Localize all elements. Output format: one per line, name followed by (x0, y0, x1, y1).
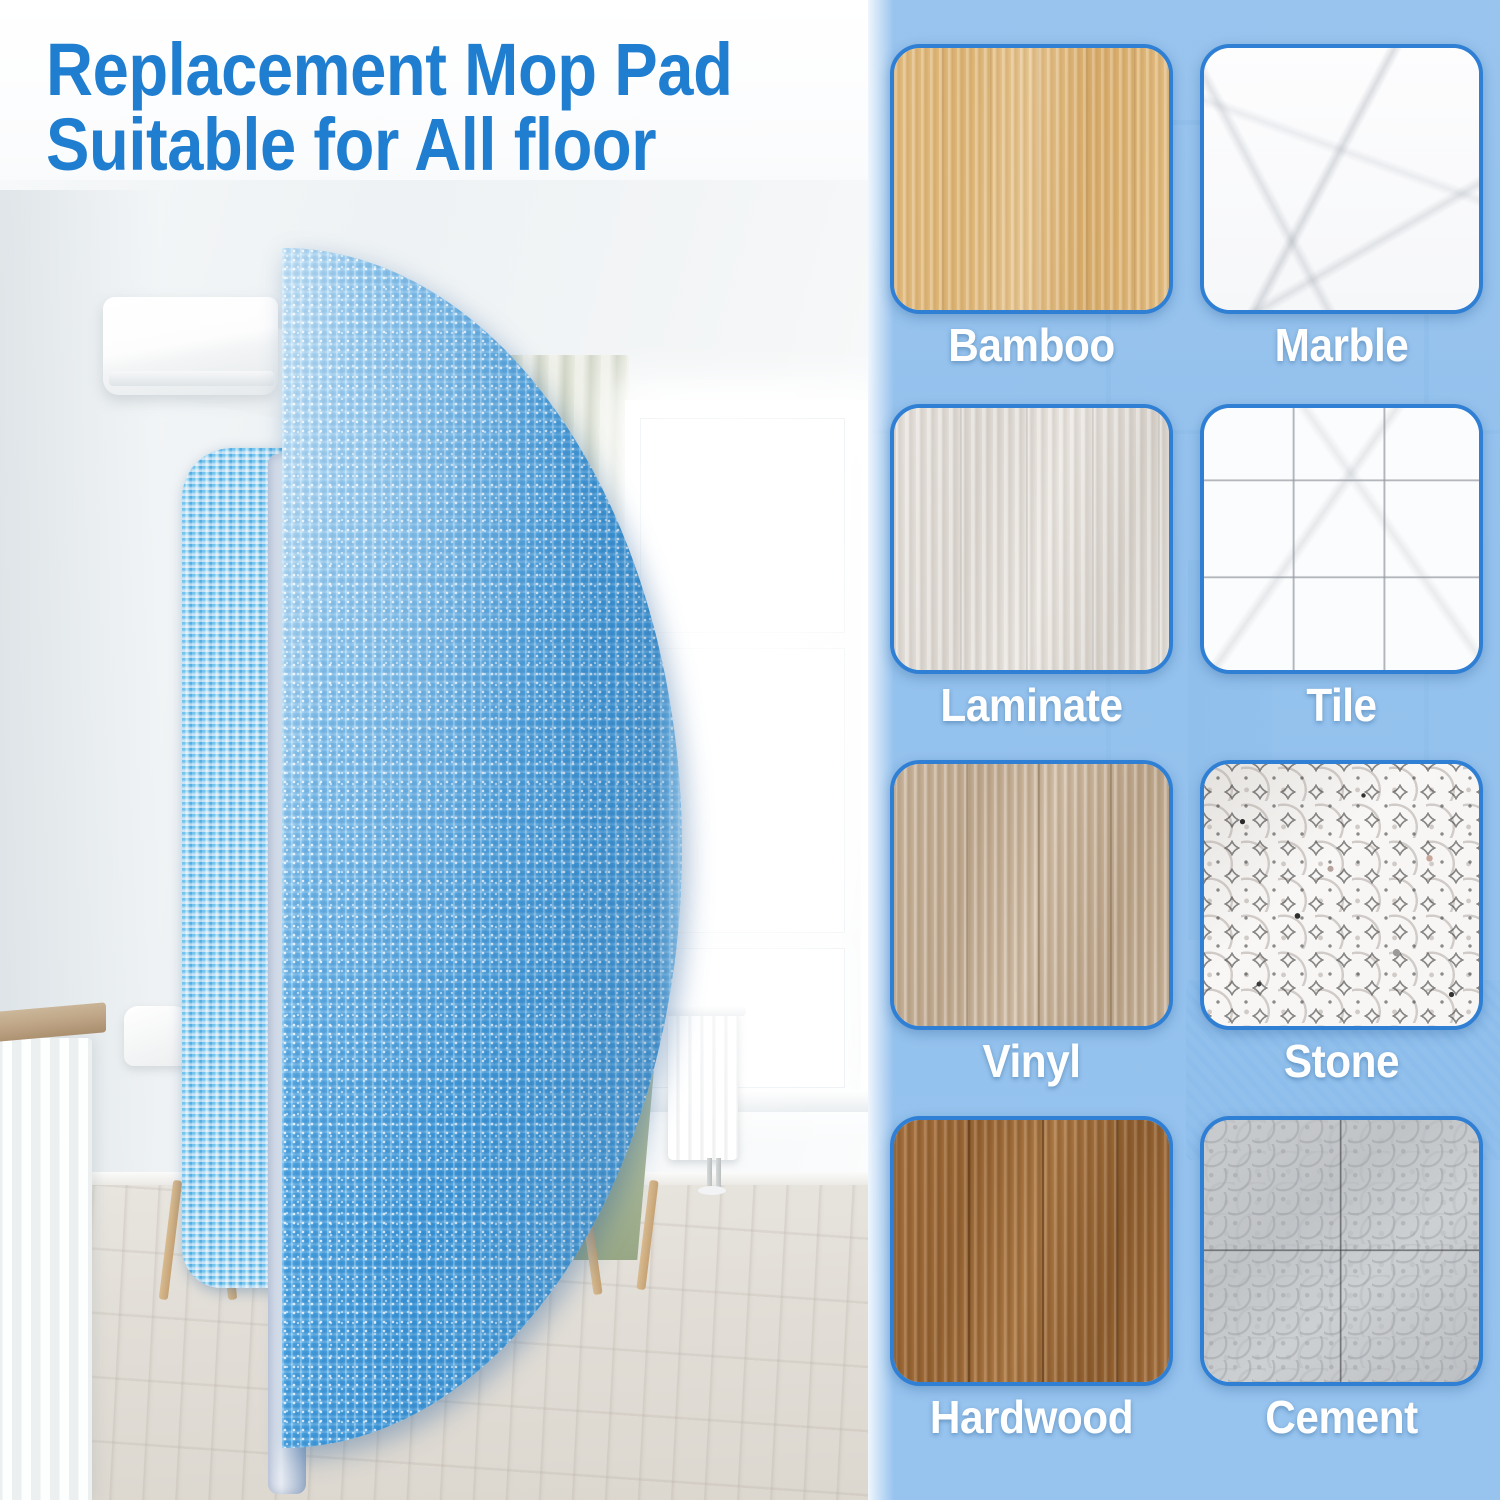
cabinet (0, 1038, 92, 1500)
vinyl-swatch (890, 760, 1173, 1030)
mop-pad (176, 248, 696, 1448)
floor-type-grid: Bamboo Marble Laminate Tile Vinyl Stone (868, 0, 1500, 1500)
floor-type-item-laminate: Laminate (890, 404, 1173, 731)
floor-type-item-marble: Marble (1200, 44, 1483, 371)
vinyl-texture (894, 764, 1169, 1026)
stone-texture (1204, 764, 1479, 1026)
stone-swatch (1200, 760, 1483, 1030)
floor-type-item-vinyl: Vinyl (890, 760, 1173, 1087)
floor-type-item-tile: Tile (1200, 404, 1483, 731)
radiator-pipe (716, 1158, 721, 1190)
mop-pad-chenille-texture (282, 248, 682, 1448)
tile-swatch (1200, 404, 1483, 674)
floor-type-item-hardwood: Hardwood (890, 1116, 1173, 1443)
page-title: Replacement Mop Pad Suitable for All flo… (46, 32, 750, 183)
floor-type-label: Vinyl (901, 1036, 1161, 1087)
tile-texture (1204, 408, 1479, 670)
marble-swatch (1200, 44, 1483, 314)
product-marketing-image: Replacement Mop Pad Suitable for All flo… (0, 0, 1500, 1500)
floor-type-label: Marble (1211, 320, 1471, 371)
cement-swatch (1200, 1116, 1483, 1386)
floor-type-label: Stone (1211, 1036, 1471, 1087)
hardwood-swatch (890, 1116, 1173, 1386)
floor-type-label: Cement (1211, 1392, 1471, 1443)
radiator-foot (698, 1186, 726, 1195)
laminate-swatch (890, 404, 1173, 674)
floor-type-label: Tile (1211, 680, 1471, 731)
bamboo-texture (894, 48, 1169, 310)
marble-texture (1204, 48, 1479, 310)
floor-type-item-stone: Stone (1200, 760, 1483, 1087)
floor-type-label: Laminate (901, 680, 1161, 731)
floor-type-item-cement: Cement (1200, 1116, 1483, 1443)
laminate-texture (894, 408, 1169, 670)
floor-type-item-bamboo: Bamboo (890, 44, 1173, 371)
hardwood-texture (894, 1120, 1169, 1382)
floor-type-label: Hardwood (901, 1392, 1161, 1443)
bamboo-swatch (890, 44, 1173, 314)
floor-type-label: Bamboo (901, 320, 1161, 371)
floor-types-panel: Bamboo Marble Laminate Tile Vinyl Stone (868, 0, 1500, 1500)
room-photo (0, 0, 868, 1500)
cement-texture (1204, 1120, 1479, 1382)
mop-pad-front (282, 248, 682, 1448)
